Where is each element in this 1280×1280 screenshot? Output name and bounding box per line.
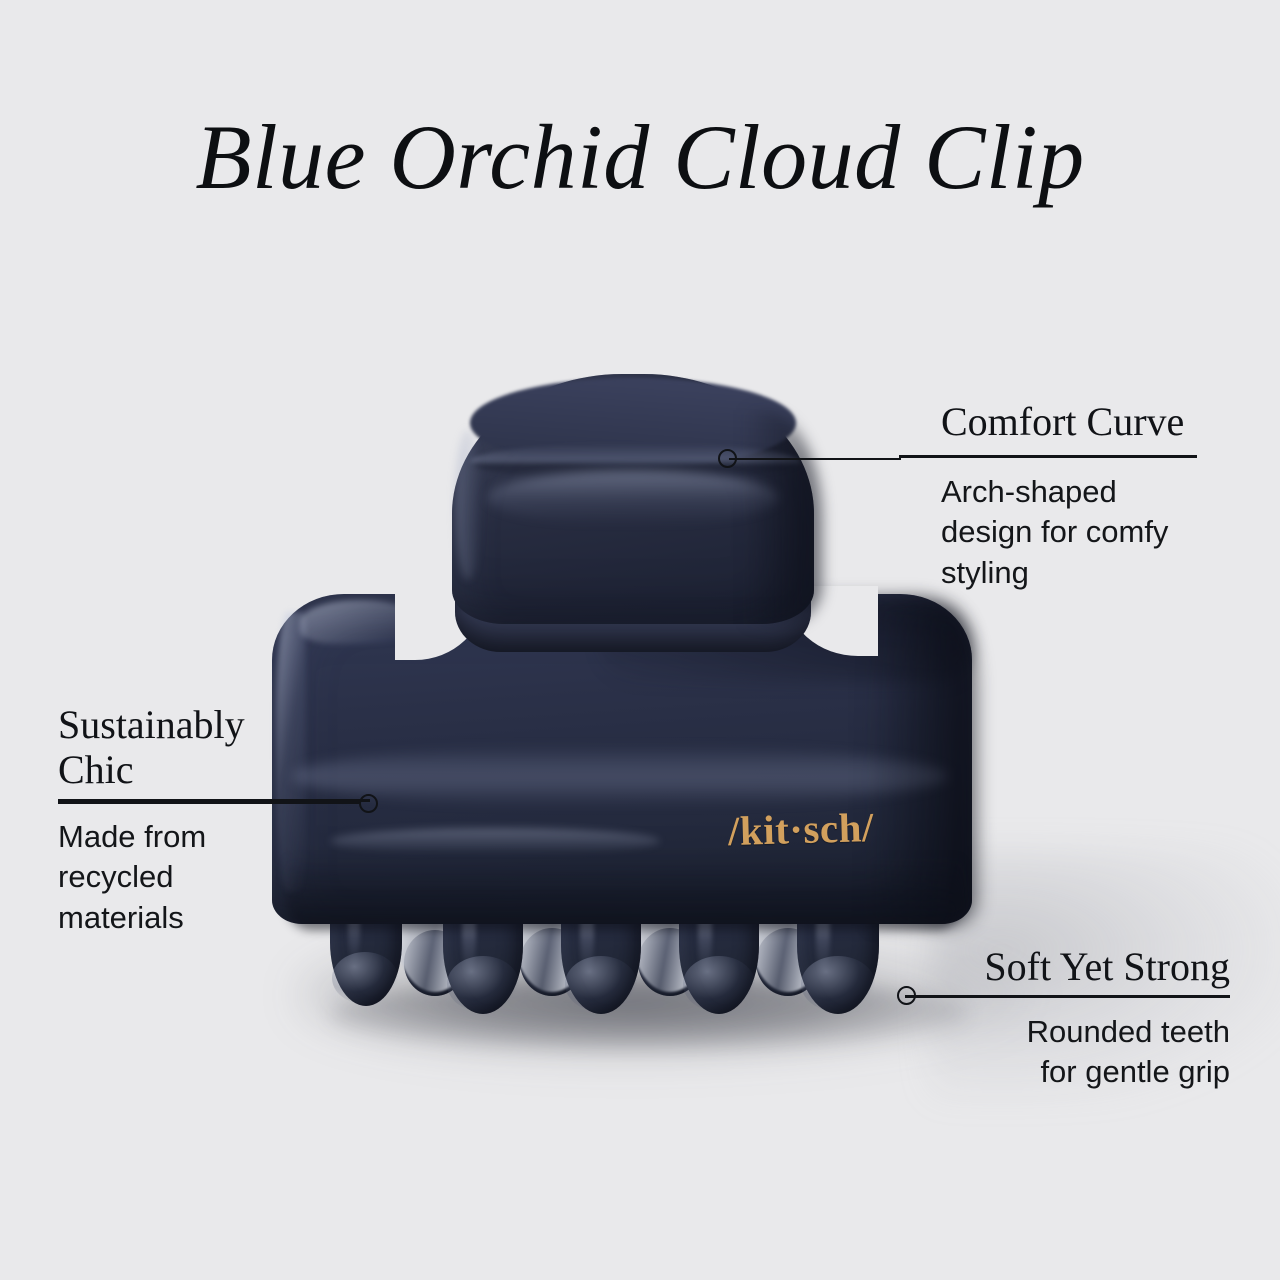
callout-title-comfort-curve: Comfort Curve — [941, 400, 1184, 445]
callout-body-soft-yet-strong: Rounded teeth for gentle grip — [905, 1012, 1230, 1093]
infographic-canvas: Blue Orchid Cloud Clip — [0, 0, 1280, 1280]
clip-arch-edge-highlight — [455, 430, 481, 580]
clip-body-shade-bottom — [286, 856, 962, 930]
callout-rule-comfort-curve — [899, 455, 1197, 458]
tooth-tip — [447, 956, 519, 1012]
callout-body-comfort-curve: Arch-shaped design for comfy styling — [941, 472, 1211, 593]
callout-leader-line-comfort-curve — [729, 458, 901, 460]
callout-body-sustainably-chic: Made from recycled materials — [58, 817, 288, 938]
brand-logo: /kit·sch/ — [727, 803, 874, 855]
tooth-tip — [683, 956, 755, 1012]
callout-anchor-dot-comfort-curve — [718, 449, 737, 468]
callout-anchor-dot-sustainably-chic — [359, 794, 378, 813]
callout-title-soft-yet-strong: Soft Yet Strong — [905, 945, 1230, 990]
callout-rule-soft-yet-strong — [905, 995, 1230, 998]
clip-arch-gloss — [487, 470, 779, 526]
tooth-tip — [801, 956, 875, 1012]
clip-arch-shade-right — [742, 410, 822, 625]
clip-body-gloss-band — [292, 745, 948, 807]
callout-title-sustainably-chic: Sustainably Chic — [58, 703, 245, 793]
clip-body-specular — [330, 828, 660, 854]
callout-leader-line-sustainably-chic — [58, 802, 361, 804]
tooth-tip — [332, 952, 398, 1004]
tooth-tip — [565, 956, 637, 1012]
callout-rule-sustainably-chic — [58, 799, 370, 802]
